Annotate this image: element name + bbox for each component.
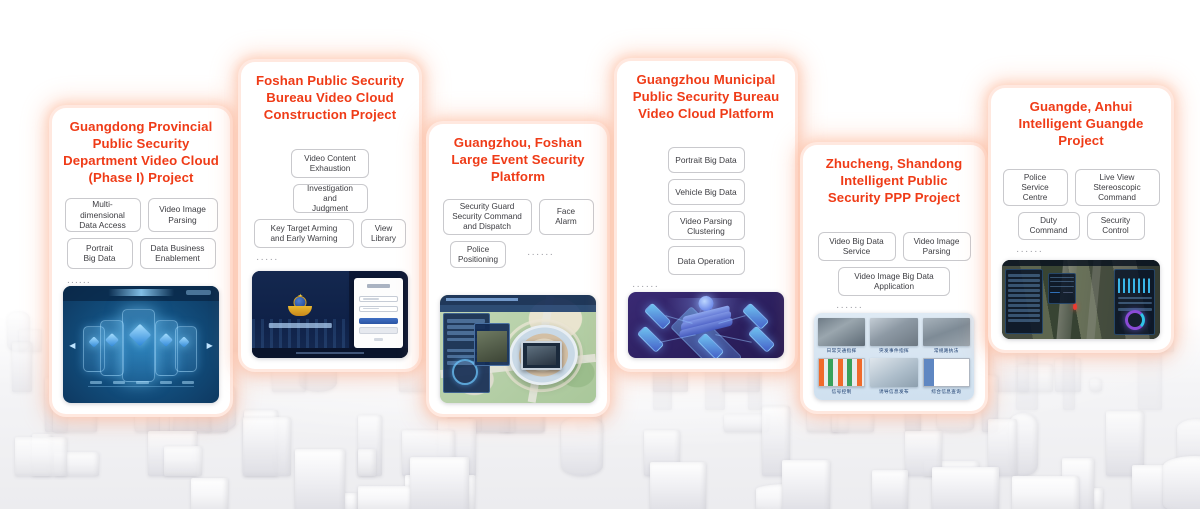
stadium-3d-map-screenshot <box>440 295 596 403</box>
login-footer <box>252 348 408 358</box>
panel-row <box>1008 319 1040 322</box>
tag-item[interactable]: Face Alarm <box>539 199 594 235</box>
isometric-cloud-illustration <box>628 292 784 358</box>
tag-item[interactable]: Investigation and Judgment <box>293 184 368 213</box>
panel-row <box>1050 281 1073 282</box>
photo-thumbnail <box>923 358 970 387</box>
tag-item[interactable]: Duty Command <box>1018 212 1080 240</box>
carousel-label <box>113 381 125 385</box>
tag-ellipsis: ······ <box>523 249 554 260</box>
video-popup-window <box>474 323 510 366</box>
tag-item[interactable]: Security Control <box>1087 212 1145 240</box>
tag-item[interactable]: Video Big Data Service <box>818 232 896 261</box>
map-topbar <box>440 295 596 305</box>
panel-row <box>1008 294 1040 297</box>
panel-row <box>1008 314 1040 317</box>
carousel-next-icon: ▶ <box>207 341 213 350</box>
tag-item[interactable]: Video Image Big Data Application <box>838 267 950 296</box>
photo-cell: 突发事件指挥 <box>870 318 917 353</box>
tag-ellipsis: ····· <box>252 254 408 265</box>
carousel-label <box>136 381 148 385</box>
card-tag-list: Portrait Big Data Vehicle Big Data Video… <box>628 147 784 275</box>
popup-video-thumbnail <box>477 331 507 362</box>
video-cloud-carousel-screenshot: ◀ ▶ <box>63 286 219 403</box>
tag-item[interactable]: Data Operation <box>668 246 745 275</box>
card-tag-list: Police Service Centre Live View Stereosc… <box>1002 169 1160 240</box>
card-tag-list-row2: Police Positioning ······ <box>440 241 596 268</box>
tag-item[interactable]: Video Content Exhaustion <box>291 149 369 178</box>
tag-item[interactable]: Key Target Arming and Early Warning <box>254 219 354 248</box>
login-button[interactable] <box>359 318 398 324</box>
panel-row <box>1008 304 1040 307</box>
tag-item[interactable]: Live View Stereoscopic Command <box>1075 169 1160 206</box>
camera-feed-overlay <box>521 341 562 369</box>
tag-item[interactable]: Vehicle Big Data <box>668 179 745 205</box>
photo-cell: 常规路执法 <box>923 318 970 353</box>
left-data-panel <box>1005 269 1043 334</box>
center-popup-panel <box>1048 273 1076 305</box>
network-node <box>637 326 665 354</box>
screenshot-topright-controls <box>186 290 211 295</box>
panel-row <box>1008 289 1040 292</box>
tag-item[interactable]: Police Service Centre <box>1003 169 1068 206</box>
card-title: Guangde, Anhui Intelligent Guangde Proje… <box>1002 98 1160 149</box>
project-card-guangdong-provincial[interactable]: Guangdong Provincial Public Security Dep… <box>52 108 230 414</box>
panel-row <box>1063 292 1073 293</box>
city-block <box>410 457 469 509</box>
project-card-foshan-public-security[interactable]: Foshan Public Security Bureau Video Clou… <box>241 62 419 369</box>
city-block <box>1012 476 1078 509</box>
photo-caption: 诱导信息发布 <box>879 389 909 395</box>
photo-caption: 日常交通指挥 <box>827 348 857 354</box>
login-form-heading <box>367 284 390 289</box>
panel-row <box>447 319 485 323</box>
photo-cell: 诱导信息发布 <box>870 358 917 395</box>
city-block <box>832 413 875 432</box>
tag-ellipsis: ······ <box>814 302 974 313</box>
panel-row <box>1050 292 1060 293</box>
carousel-prev-icon: ◀ <box>69 341 75 350</box>
city-block <box>358 486 417 509</box>
city-block <box>650 462 706 509</box>
city-block <box>1163 456 1200 509</box>
photo-thumbnail <box>818 318 865 345</box>
project-card-zhucheng-shandong[interactable]: Zhucheng, Shandong Intelligent Public Se… <box>803 145 985 411</box>
project-card-guangzhou-foshan-large-event[interactable]: Guangzhou, Foshan Large Event Security P… <box>429 124 607 414</box>
tag-item[interactable]: View Library <box>361 219 406 248</box>
right-analytics-panel <box>1114 269 1155 335</box>
carousel-label <box>160 381 172 385</box>
city-block <box>358 449 376 477</box>
photo-cell: 日常交通指挥 <box>818 318 865 353</box>
dashboard-header <box>1002 260 1160 266</box>
bar-chart <box>1118 277 1151 292</box>
tag-item[interactable]: Portrait Big Data <box>668 147 745 173</box>
tag-ellipsis: ...... <box>63 275 219 286</box>
carousel-slide <box>175 326 197 373</box>
city-block <box>561 416 604 476</box>
aerial-surveillance-dashboard <box>1002 260 1160 339</box>
card-tag-list: Video Big Data Service Video Image Parsi… <box>814 232 974 296</box>
photo-caption: 综合信息查询 <box>931 389 961 395</box>
card-title: Guangdong Provincial Public Security Dep… <box>63 118 219 187</box>
map-tabbar <box>440 305 596 313</box>
panel-row <box>1008 284 1040 287</box>
tag-item[interactable]: Data Business Enablement <box>140 238 216 269</box>
card-title: Foshan Public Security Bureau Video Clou… <box>252 72 408 123</box>
photo-thumbnail <box>923 318 970 345</box>
panel-row <box>1050 277 1073 278</box>
secondary-login-button[interactable] <box>359 327 398 333</box>
card-tag-list: Security Guard Security Command and Disp… <box>440 199 596 235</box>
panel-row <box>1118 297 1152 300</box>
card-tag-list: Multi-dimensional Data Access Video Imag… <box>63 198 219 269</box>
city-block <box>15 437 67 476</box>
city-block <box>295 449 346 509</box>
forgot-password-link[interactable] <box>374 338 384 341</box>
city-block <box>243 417 291 476</box>
card-title: Guangzhou Municipal Public Security Bure… <box>628 71 784 122</box>
city-block <box>782 460 830 509</box>
panel-row <box>1118 302 1152 305</box>
login-form-panel <box>354 278 402 348</box>
panel-row <box>1008 279 1040 282</box>
carousel-label <box>90 381 102 385</box>
tag-item[interactable]: Video Parsing Clustering <box>668 211 745 240</box>
city-block <box>932 467 999 509</box>
tag-item[interactable]: Security Guard Security Command and Disp… <box>443 199 532 235</box>
password-field[interactable] <box>359 306 398 312</box>
photo-cell: 综合信息查询 <box>923 358 970 395</box>
emblem-wings-icon <box>288 306 312 316</box>
username-field[interactable] <box>359 296 398 302</box>
hero-subtitle-bar <box>269 323 331 328</box>
panel-row <box>1050 286 1073 287</box>
panel-row <box>1008 299 1040 302</box>
project-card-guangde-anhui[interactable]: Guangde, Anhui Intelligent Guangde Proje… <box>991 88 1171 350</box>
city-block <box>872 470 908 509</box>
donut-chart <box>1125 310 1145 330</box>
panel-row <box>1008 309 1040 312</box>
project-card-guangzhou-municipal[interactable]: Guangzhou Municipal Public Security Bure… <box>617 61 795 369</box>
tag-item[interactable]: Video Image Parsing <box>148 198 218 232</box>
police-login-page-screenshot: ★ <box>252 271 408 358</box>
city-block <box>164 446 202 477</box>
network-node <box>748 326 776 354</box>
tag-item[interactable]: Portrait Big Data <box>67 238 133 269</box>
photo-thumbnail <box>870 318 917 345</box>
panel-row <box>1008 274 1040 277</box>
card-title: Zhucheng, Shandong Intelligent Public Se… <box>814 155 974 206</box>
traffic-photo-grid-screenshot: 日常交通指挥 突发事件指挥 常规路执法 信号控制 诱导信息发布 综合信息查询 <box>814 313 974 400</box>
card-tag-list: Video Content Exhaustion Investigation a… <box>252 149 408 248</box>
tag-ellipsis: ······ <box>628 281 784 292</box>
screenshot-title-bar <box>108 289 174 296</box>
tag-ellipsis: ······ <box>1002 246 1160 257</box>
photo-thumbnail <box>818 358 865 387</box>
card-title: Guangzhou, Foshan Large Event Security P… <box>440 134 596 185</box>
carousel-label <box>182 381 194 385</box>
carousel-slide <box>100 320 123 376</box>
tag-item[interactable]: Video Image Parsing <box>903 232 971 261</box>
city-block <box>1090 378 1102 392</box>
photo-grid: 日常交通指挥 突发事件指挥 常规路执法 信号控制 诱导信息发布 综合信息查询 <box>818 318 970 395</box>
city-block <box>191 478 228 509</box>
photo-caption: 突发事件指挥 <box>879 348 909 354</box>
tag-item[interactable]: Police Positioning <box>450 241 506 268</box>
photo-caption: 信号控制 <box>832 389 852 395</box>
tag-item[interactable]: Multi-dimensional Data Access <box>65 198 141 232</box>
photo-thumbnail <box>870 358 917 387</box>
photo-caption: 常规路执法 <box>934 348 959 354</box>
photo-cell: 信号控制 <box>818 358 865 395</box>
carousel-indicator-line <box>88 386 194 387</box>
city-block <box>12 342 32 392</box>
police-emblem-icon: ★ <box>287 294 313 318</box>
